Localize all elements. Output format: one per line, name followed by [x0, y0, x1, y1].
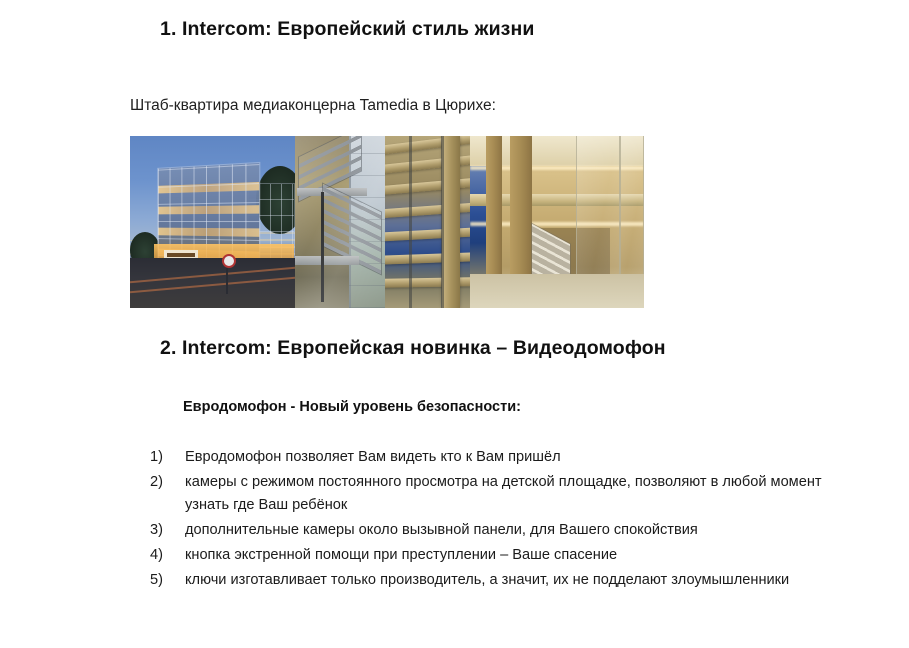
street-ground [130, 258, 295, 308]
list-item-marker: 3) [150, 519, 185, 542]
list-item-marker: 1) [150, 446, 185, 469]
list-item: 1) Евродомофон позволяет Вам видеть кто … [150, 446, 850, 469]
atrium-floor [470, 274, 644, 308]
list-item: 5) ключи изготавливает только производит… [150, 569, 850, 592]
heading-1: 1. Intercom: Европейский стиль жизни [160, 18, 534, 41]
section-subheading: Евродомофон - Новый уровень безопасности… [183, 399, 521, 415]
heading-2: 2. Intercom: Европейская новинка – Видео… [160, 337, 666, 360]
list-item-text: камеры с режимом постоянного просмотра н… [185, 471, 845, 517]
list-item-text: кнопка экстренной помощи при преступлени… [185, 544, 845, 567]
list-item: 4) кнопка экстренной помощи при преступл… [150, 544, 850, 567]
document-page: 1. Intercom: Европейский стиль жизни Шта… [0, 0, 909, 648]
photo-strip [130, 136, 644, 308]
window-mullion-2 [441, 136, 444, 308]
photo-tamedia-exterior-dusk [130, 136, 295, 308]
road-sign-disc [222, 254, 236, 268]
beam-post-right [442, 136, 460, 308]
list-item-text: дополнительные камеры около вызывной пан… [185, 519, 845, 542]
list-item: 2) камеры с режимом постоянного просмотр… [150, 471, 850, 517]
photo-strip-caption: Штаб-квартира медиаконцерна Tamedia в Цю… [130, 97, 496, 115]
list-item-text: ключи изготавливает только производитель… [185, 569, 845, 592]
window-mullion-1 [409, 136, 412, 308]
photo-wooden-beams [385, 136, 470, 308]
heading-1-number: 1. [160, 18, 182, 41]
heading-2-number: 2. [160, 337, 182, 360]
list-item-marker: 4) [150, 544, 185, 567]
heading-2-text: Intercom: Европейская новинка – Видеодом… [182, 337, 666, 360]
feature-list: 1) Евродомофон позволяет Вам видеть кто … [150, 446, 850, 594]
list-item-marker: 5) [150, 569, 185, 592]
heading-1-text: Intercom: Европейский стиль жизни [182, 18, 534, 41]
list-item-text: Евродомофон позволяет Вам видеть кто к В… [185, 446, 845, 469]
glass-reflection [295, 136, 385, 308]
list-item-marker: 2) [150, 471, 185, 494]
road-light-trail-1 [130, 266, 295, 284]
photo-wooden-atrium [470, 136, 644, 308]
photo-glass-stairwell [295, 136, 385, 308]
list-item: 3) дополнительные камеры около вызывной … [150, 519, 850, 542]
